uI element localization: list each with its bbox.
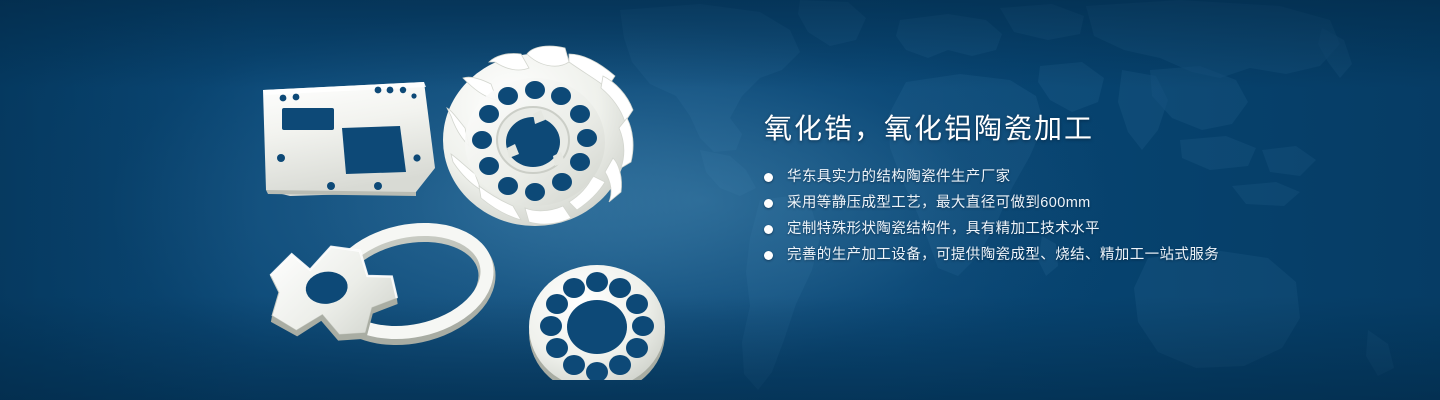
list-item: 定制特殊形状陶瓷结构件，具有精加工技术水平: [764, 220, 1324, 239]
bullet-dot-icon: [764, 251, 773, 260]
bullet-dot-icon: [764, 173, 773, 182]
page-title: 氧化锆，氧化铝陶瓷加工: [764, 112, 1324, 146]
list-item: 华东具实力的结构陶瓷件生产厂家: [764, 168, 1324, 187]
list-item-label: 采用等静压成型工艺，最大直径可做到600mm: [787, 194, 1091, 213]
list-item: 完善的生产加工设备，可提供陶瓷成型、烧结、精加工一站式服务: [764, 246, 1324, 265]
hero-banner: 氧化锆，氧化铝陶瓷加工 华东具实力的结构陶瓷件生产厂家 采用等静压成型工艺，最大…: [0, 0, 1440, 400]
list-item-label: 完善的生产加工设备，可提供陶瓷成型、烧结、精加工一站式服务: [787, 246, 1219, 265]
ceramic-flange-disc: [529, 265, 665, 380]
ceramic-impeller: [443, 46, 633, 226]
list-item-label: 华东具实力的结构陶瓷件生产厂家: [787, 168, 1011, 187]
list-item: 采用等静压成型工艺，最大直径可做到600mm: [764, 194, 1324, 213]
feature-list: 华东具实力的结构陶瓷件生产厂家 采用等静压成型工艺，最大直径可做到600mm 定…: [764, 168, 1324, 265]
bullet-dot-icon: [764, 199, 773, 208]
product-photo-group: [230, 40, 700, 380]
banner-text-block: 氧化锆，氧化铝陶瓷加工 华东具实力的结构陶瓷件生产厂家 采用等静压成型工艺，最大…: [764, 112, 1324, 272]
list-item-label: 定制特殊形状陶瓷结构件，具有精加工技术水平: [787, 220, 1100, 239]
ceramic-plate: [263, 82, 435, 196]
bullet-dot-icon: [764, 225, 773, 234]
